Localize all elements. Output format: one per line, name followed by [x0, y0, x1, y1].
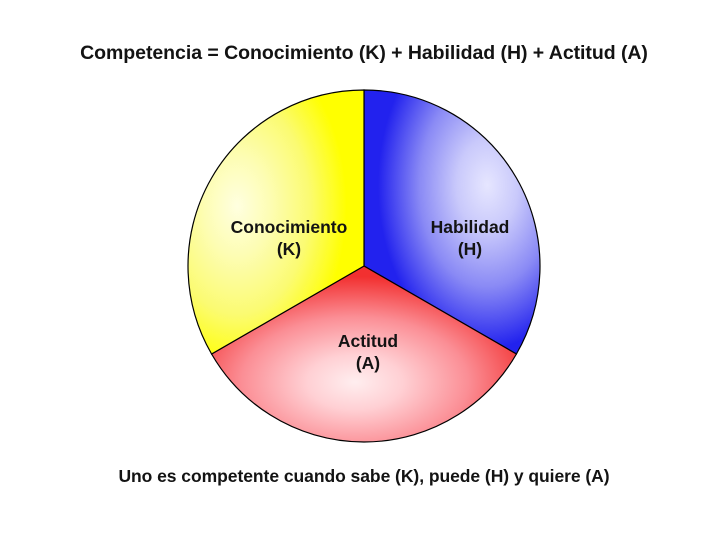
slide-caption: Uno es competente cuando sabe (K), puede… — [0, 466, 728, 487]
page-title: Competencia = Conocimiento (K) + Habilid… — [0, 42, 728, 65]
slide-canvas: Competencia = Conocimiento (K) + Habilid… — [0, 0, 728, 546]
pie-chart-svg — [186, 88, 542, 444]
pie-chart — [186, 88, 542, 444]
